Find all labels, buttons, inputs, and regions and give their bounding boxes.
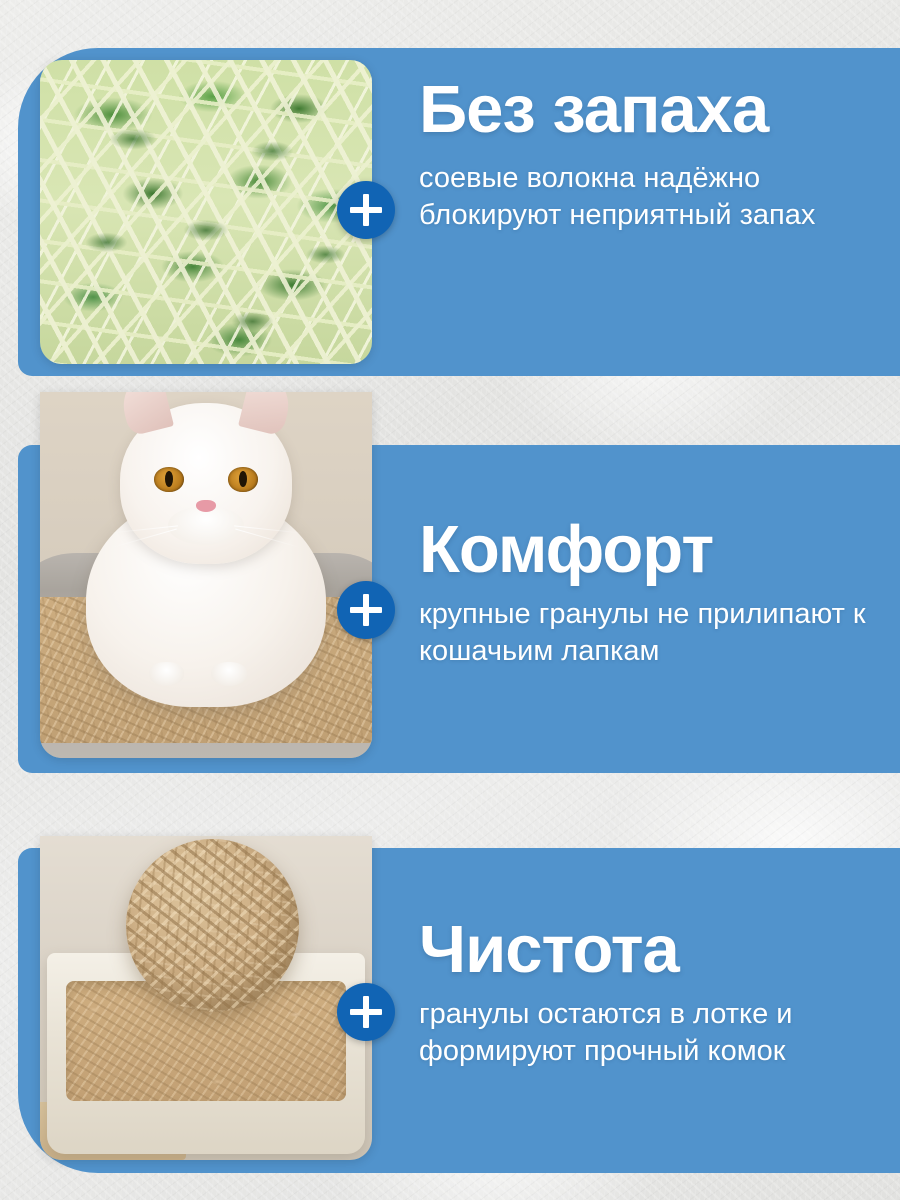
feature-heading-1: Без запаха: [419, 78, 870, 142]
feature-subtitle-1: соевые волокна надёжно блокируют неприят…: [419, 160, 870, 233]
cat-in-litterbox-image: [40, 392, 372, 758]
feature-subtitle-2: крупные гранулы не прилипают к кошачьим …: [419, 596, 870, 669]
plus-icon: [337, 581, 395, 639]
feature-text-3: Чистота гранулы остаются в лотке и форми…: [419, 918, 870, 1069]
feature-text-1: Без запаха соевые волокна надёжно блокир…: [419, 78, 870, 233]
cat-paw-left: [149, 662, 185, 685]
feature-subtitle-3: гранулы остаются в лотке и формируют про…: [419, 996, 870, 1069]
cat-ear-right: [238, 392, 295, 437]
plus-icon-vertical-bar: [363, 594, 369, 626]
sprouts-image: [40, 60, 372, 364]
cat-eye-left: [154, 467, 183, 491]
feature-photo-2: [40, 392, 372, 758]
plus-icon-vertical-bar: [363, 996, 369, 1028]
plus-icon: [337, 181, 395, 239]
feature-photo-1: [40, 60, 372, 364]
plus-icon: [337, 983, 395, 1041]
pellet-clump-image: [40, 836, 372, 1160]
feature-heading-3: Чистота: [419, 918, 870, 982]
cat-eye-right: [228, 467, 257, 491]
cat-head-shape: [120, 403, 293, 564]
cat-ear-left: [117, 392, 174, 437]
feature-heading-2: Комфорт: [419, 518, 870, 582]
feature-photo-3: [40, 836, 372, 1160]
cat-paw-right: [211, 662, 247, 685]
pellet-clump-ball: [126, 839, 299, 1012]
plus-icon-vertical-bar: [363, 194, 369, 226]
feature-text-2: Комфорт крупные гранулы не прилипают к к…: [419, 518, 870, 669]
